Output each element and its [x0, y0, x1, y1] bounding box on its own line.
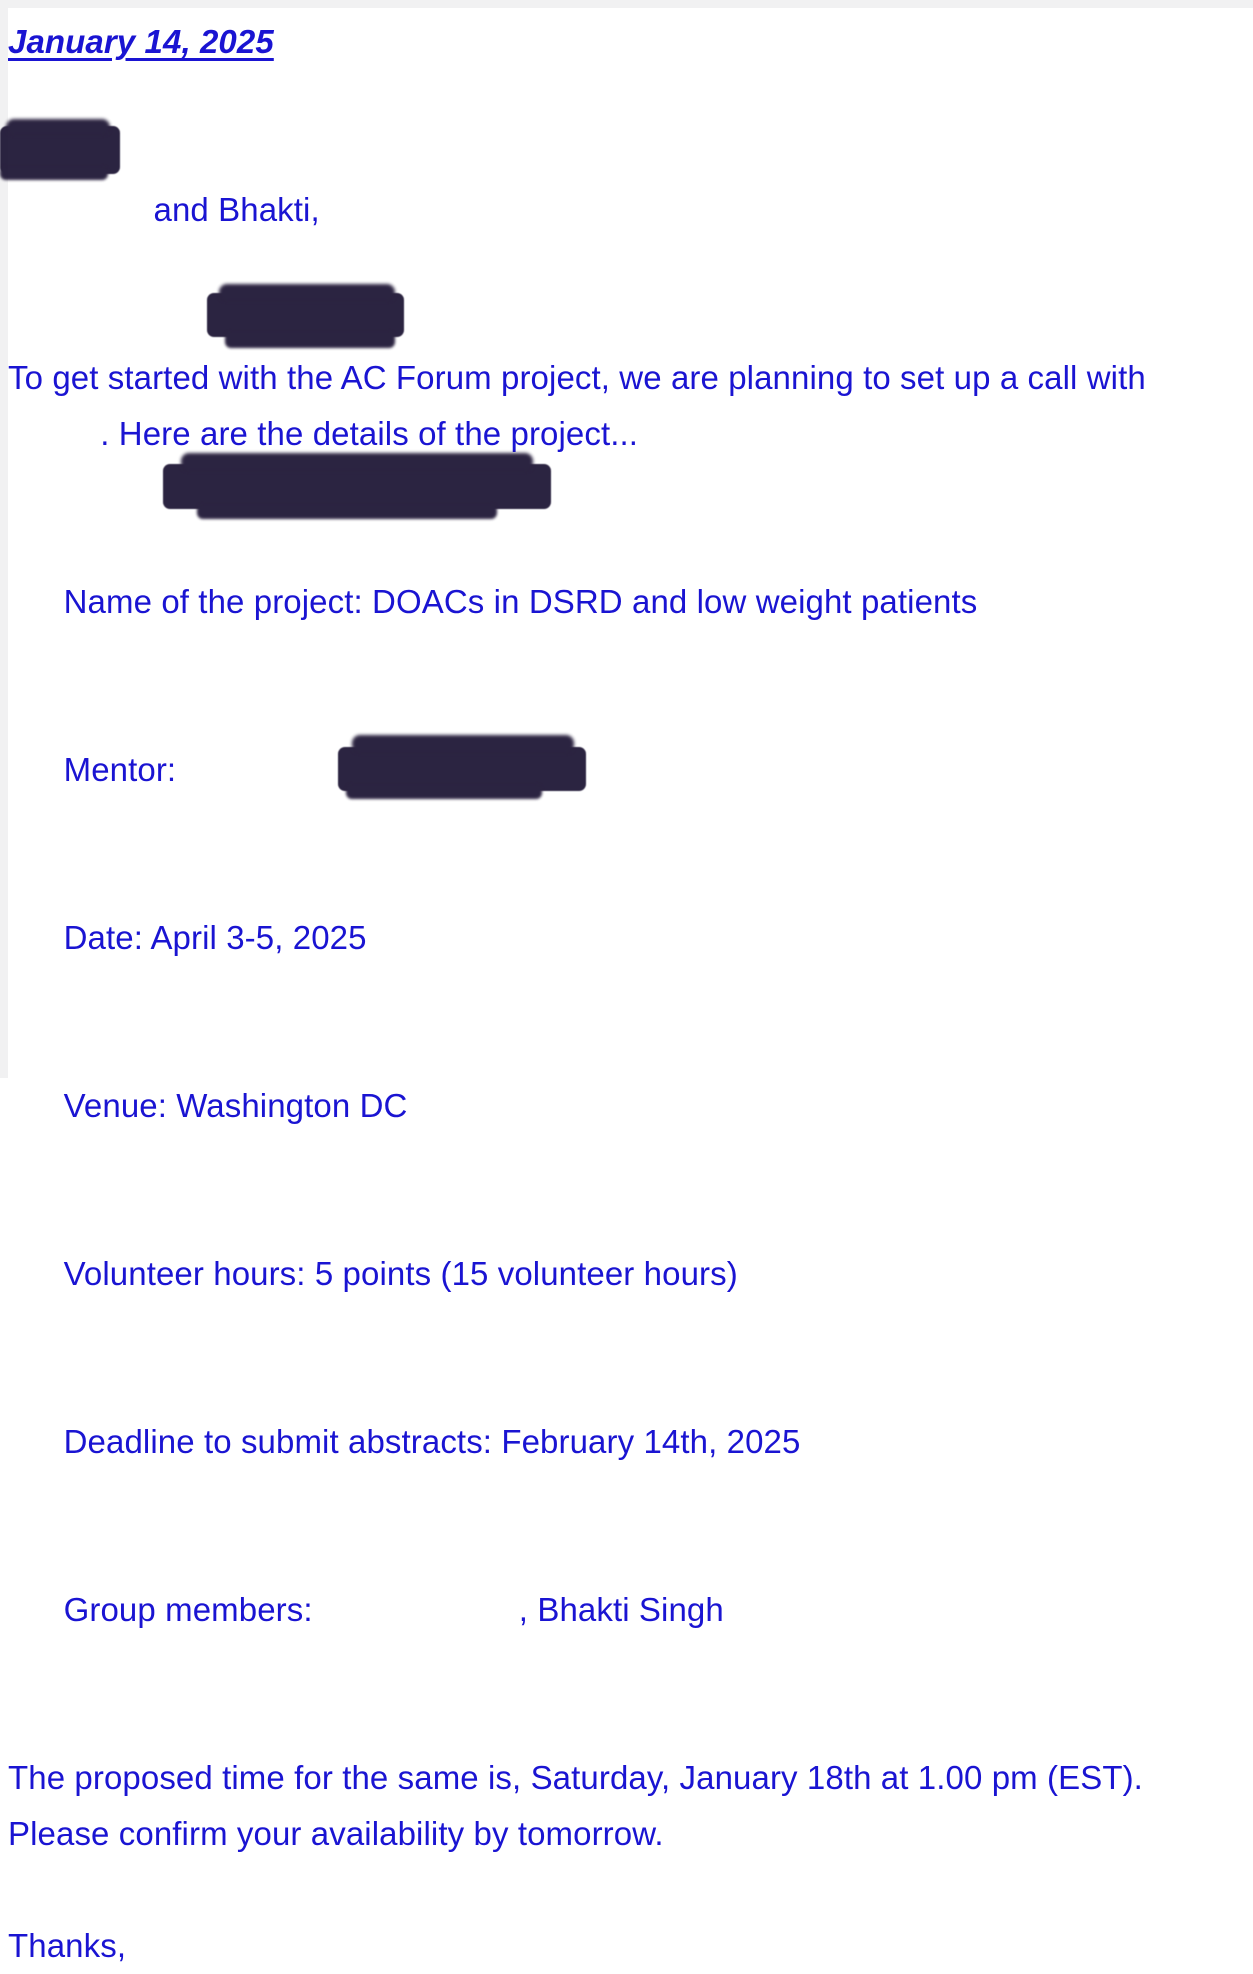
deadline-label: Deadline to submit abstracts:	[64, 1423, 492, 1460]
group-members-value-after: , Bhakti Singh	[519, 1591, 724, 1628]
spacer-after-details	[8, 1694, 1253, 1750]
project-name-value: DOACs in DSRD and low weight patients	[363, 583, 978, 620]
date-heading-row: January 14, 2025	[8, 8, 1253, 70]
mentor-label: Mentor:	[64, 751, 177, 788]
page-left-gutter	[0, 0, 8, 1078]
page-top-gutter	[0, 0, 1253, 8]
volunteer-hours-label: Volunteer hours:	[64, 1255, 306, 1292]
venue-value: Washington DC	[167, 1087, 407, 1124]
intro-text-before: To get started with the AC Forum project…	[8, 359, 1155, 396]
date-heading: January 14, 2025	[8, 14, 274, 70]
email-page: January 14, 2025 Avani and Bhakti, To ge…	[8, 8, 1253, 1078]
detail-group-members: Group members: Avani Prabhu, Bhakti Sing…	[8, 1526, 1253, 1694]
detail-venue: Venue: Washington DC	[8, 1022, 1253, 1190]
spacer-after-proposed-time	[8, 1862, 1253, 1918]
closing-line: Thanks,	[8, 1918, 1253, 1974]
detail-date: Date: April 3-5, 2025	[8, 854, 1253, 1022]
greeting-line: Avani and Bhakti,	[8, 126, 1253, 294]
venue-label: Venue:	[64, 1087, 167, 1124]
proposed-time-paragraph: The proposed time for the same is, Satur…	[8, 1750, 1253, 1862]
intro-text-after: . Here are the details of the project...	[100, 415, 638, 452]
detail-project-name: Name of the project: DOACs in DSRD and l…	[8, 518, 1253, 686]
detail-mentor: Mentor:Dr. Haritha Pabbathi	[8, 686, 1253, 854]
spacer-after-greeting	[8, 294, 1253, 350]
deadline-value: February 14th, 2025	[492, 1423, 800, 1460]
date-label: Date:	[64, 919, 143, 956]
email-body: January 14, 2025 Avani and Bhakti, To ge…	[8, 8, 1253, 1974]
group-members-label: Group members:	[64, 1591, 320, 1628]
greeting-rest: and Bhakti,	[144, 191, 319, 228]
volunteer-hours-value: 5 points (15 volunteer hours)	[306, 1255, 738, 1292]
project-name-label: Name of the project:	[64, 583, 363, 620]
spacer-after-intro	[8, 462, 1253, 518]
intro-paragraph: To get started with the AC Forum project…	[8, 350, 1253, 462]
detail-deadline: Deadline to submit abstracts: February 1…	[8, 1358, 1253, 1526]
detail-volunteer-hours: Volunteer hours: 5 points (15 volunteer …	[8, 1190, 1253, 1358]
date-value: April 3-5, 2025	[143, 919, 367, 956]
spacer-after-date	[8, 70, 1253, 126]
